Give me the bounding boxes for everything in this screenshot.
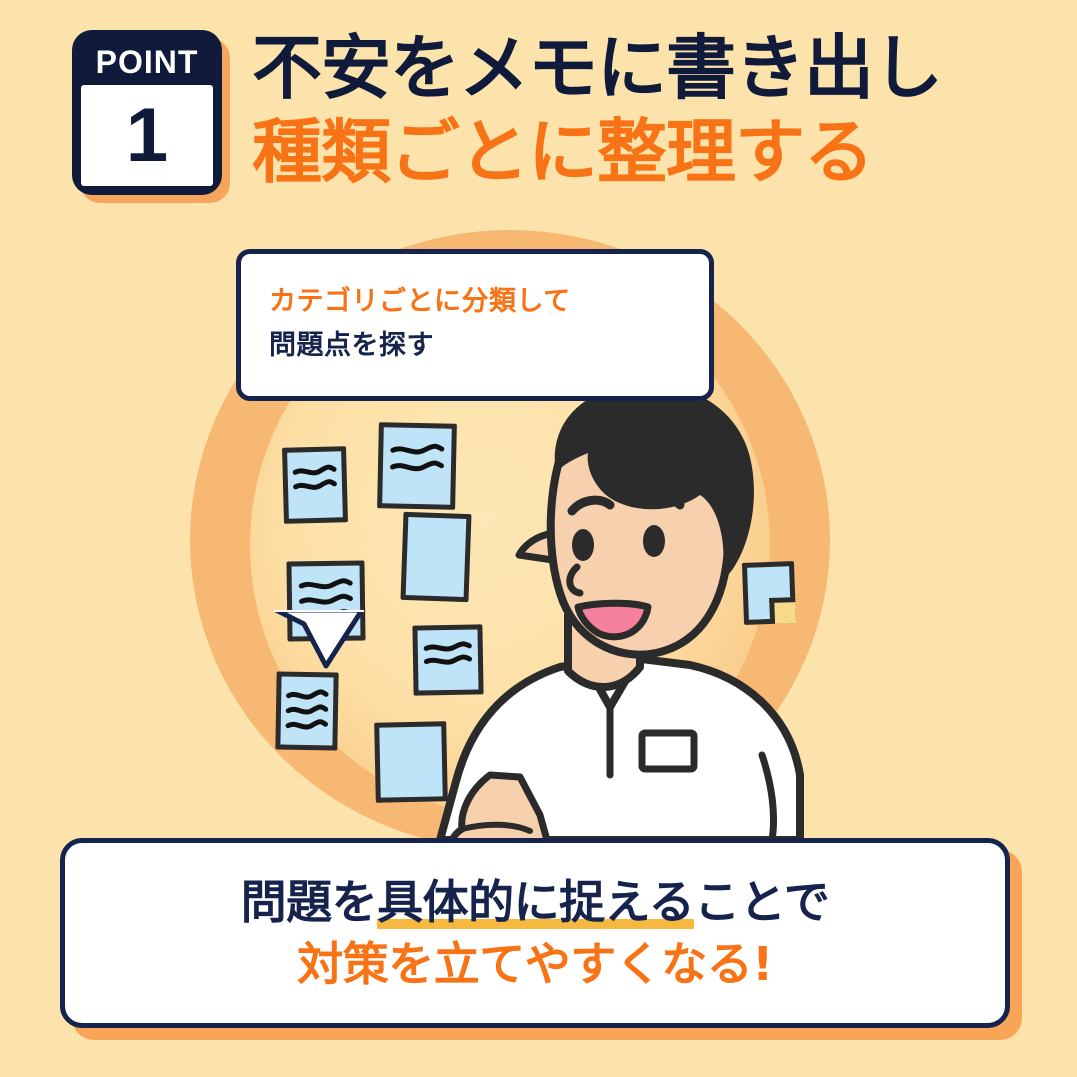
point-badge: POINT 1 [72,30,222,195]
speech-bubble-line-1: カテゴリごとに分類して [269,280,709,324]
callout-line-1: 問題を具体的に捉えることで [241,871,830,933]
speech-bubble-tail [274,610,364,670]
point-badge-number: 1 [126,98,168,174]
speech-bubble-line-2: 問題点を探す [269,324,709,368]
callout-line1-post: ことで [694,875,829,929]
callout-box: 問題を具体的に捉えることで 対策を立てやすくなる! [60,838,1010,1028]
headline-line-1: 不安をメモに書き出し [252,26,1052,110]
callout-line1-highlight: 具体的に捉える [377,875,694,929]
headline-line-2: 種類ごとに整理する [252,110,1052,194]
point-badge-number-panel: 1 [81,85,213,186]
eye-right [643,525,665,557]
callout-line-2: 対策を立てやすくなる! [297,933,772,995]
eye-left [572,529,594,561]
callout-line1-pre: 問題を [241,875,378,929]
headline: 不安をメモに書き出し 種類ごとに整理する [252,26,1052,194]
speech-bubble: カテゴリごとに分類して 問題点を探す [236,249,714,401]
point-badge-label: POINT [96,39,199,85]
infographic-canvas: POINT 1 不安をメモに書き出し 種類ごとに整理する [0,0,1077,1077]
